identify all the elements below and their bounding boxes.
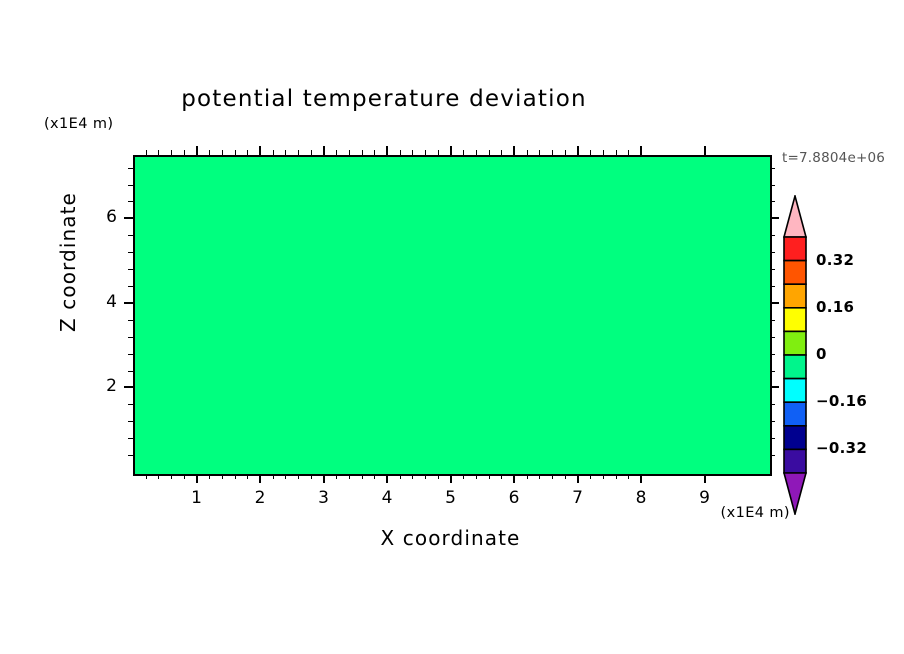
x-minor-tick-top xyxy=(565,150,566,155)
x-minor-tick xyxy=(412,474,413,479)
y-minor-tick-right xyxy=(770,185,775,186)
x-minor-tick-top xyxy=(336,150,337,155)
x-major-tick-top xyxy=(704,146,706,155)
y-minor-tick xyxy=(128,354,133,355)
x-minor-tick-top xyxy=(362,150,363,155)
x-minor-tick-top xyxy=(438,150,439,155)
x-minor-tick xyxy=(527,474,528,479)
y-axis-title: Z coordinate xyxy=(56,167,80,357)
x-minor-tick-top xyxy=(616,150,617,155)
y-minor-tick xyxy=(128,201,133,202)
x-minor-tick-top xyxy=(463,150,464,155)
x-tick-label: 6 xyxy=(494,488,534,508)
y-minor-tick xyxy=(128,455,133,456)
x-major-tick xyxy=(323,474,325,483)
x-tick-label: 1 xyxy=(177,488,217,508)
y-minor-tick-right xyxy=(770,455,775,456)
y-major-tick xyxy=(124,302,133,304)
x-minor-tick xyxy=(247,474,248,479)
y-minor-tick-right xyxy=(770,235,775,236)
x-minor-tick xyxy=(374,474,375,479)
page-title: potential temperature deviation xyxy=(0,86,768,112)
y-minor-tick-right xyxy=(770,354,775,355)
contour-plot-area xyxy=(133,155,772,476)
y-tick-label: 4 xyxy=(77,292,117,312)
colorbar-tick-label: 0.32 xyxy=(816,251,854,269)
x-minor-tick-top xyxy=(311,150,312,155)
x-minor-tick xyxy=(590,474,591,479)
y-tick-label: 6 xyxy=(77,207,117,227)
y-minor-tick xyxy=(128,168,133,169)
x-major-tick-top xyxy=(196,146,198,155)
x-minor-tick-top xyxy=(285,150,286,155)
x-minor-tick xyxy=(171,474,172,479)
x-minor-tick xyxy=(235,474,236,479)
x-minor-tick-top xyxy=(184,150,185,155)
x-minor-tick xyxy=(425,474,426,479)
x-minor-tick-top xyxy=(146,150,147,155)
x-minor-tick xyxy=(603,474,604,479)
x-minor-tick xyxy=(489,474,490,479)
y-minor-tick-right xyxy=(770,404,775,405)
y-minor-tick-right xyxy=(770,421,775,422)
x-minor-tick-top xyxy=(603,150,604,155)
time-annotation: t=7.8804e+06 xyxy=(782,150,885,166)
x-minor-tick-top xyxy=(158,150,159,155)
x-minor-tick-top xyxy=(298,150,299,155)
x-major-tick-top xyxy=(450,146,452,155)
x-major-tick xyxy=(386,474,388,483)
x-minor-tick xyxy=(476,474,477,479)
x-minor-tick xyxy=(616,474,617,479)
x-tick-label: 3 xyxy=(304,488,344,508)
colorbar-band xyxy=(784,331,806,355)
y-tick-label: 2 xyxy=(77,376,117,396)
x-minor-tick xyxy=(539,474,540,479)
x-minor-tick xyxy=(273,474,274,479)
x-tick-label: 9 xyxy=(685,488,725,508)
x-minor-tick-top xyxy=(489,150,490,155)
y-minor-tick-right xyxy=(770,201,775,202)
y-minor-tick-right xyxy=(770,337,775,338)
colorbar-band xyxy=(784,426,806,450)
y-minor-tick xyxy=(128,438,133,439)
y-minor-tick-right xyxy=(770,269,775,270)
colorbar-band xyxy=(784,308,806,332)
y-minor-tick xyxy=(128,185,133,186)
colorbar-band xyxy=(784,355,806,379)
x-minor-tick xyxy=(298,474,299,479)
x-minor-tick xyxy=(349,474,350,479)
x-minor-tick-top xyxy=(412,150,413,155)
x-minor-tick-top xyxy=(349,150,350,155)
x-minor-tick-top xyxy=(171,150,172,155)
x-minor-tick-top xyxy=(400,150,401,155)
x-tick-label: 5 xyxy=(431,488,471,508)
x-minor-tick xyxy=(336,474,337,479)
y-major-tick-right xyxy=(770,386,779,388)
y-minor-tick xyxy=(128,286,133,287)
x-minor-tick-top xyxy=(501,150,502,155)
x-axis-unit-label: (x1E4 m) xyxy=(721,505,790,521)
x-major-tick xyxy=(640,474,642,483)
x-major-tick-top xyxy=(577,146,579,155)
y-minor-tick-right xyxy=(770,252,775,253)
x-minor-tick xyxy=(146,474,147,479)
x-minor-tick-top xyxy=(273,150,274,155)
x-minor-tick xyxy=(463,474,464,479)
colorbar-swatches xyxy=(783,195,807,515)
y-minor-tick-right xyxy=(770,438,775,439)
y-minor-tick xyxy=(128,235,133,236)
x-minor-tick xyxy=(552,474,553,479)
y-minor-tick xyxy=(128,269,133,270)
y-minor-tick-right xyxy=(770,320,775,321)
x-minor-tick-top xyxy=(222,150,223,155)
y-minor-tick xyxy=(128,421,133,422)
x-minor-tick-top xyxy=(476,150,477,155)
y-minor-tick xyxy=(128,404,133,405)
x-minor-tick xyxy=(184,474,185,479)
x-minor-tick xyxy=(209,474,210,479)
x-minor-tick xyxy=(285,474,286,479)
colorbar-under-arrow xyxy=(784,473,806,514)
x-tick-label: 4 xyxy=(367,488,407,508)
scalar-field-heatmap xyxy=(135,157,770,474)
y-major-tick-right xyxy=(770,217,779,219)
x-minor-tick-top xyxy=(374,150,375,155)
y-minor-tick-right xyxy=(770,286,775,287)
x-tick-label: 2 xyxy=(240,488,280,508)
x-tick-label: 8 xyxy=(621,488,661,508)
x-minor-tick-top xyxy=(527,150,528,155)
colorbar-band xyxy=(784,449,806,473)
colorbar-band xyxy=(784,261,806,285)
x-major-tick-top xyxy=(640,146,642,155)
x-major-tick xyxy=(196,474,198,483)
x-major-tick xyxy=(450,474,452,483)
colorbar-tick-label: −0.16 xyxy=(816,392,867,410)
x-major-tick-top xyxy=(386,146,388,155)
x-minor-tick xyxy=(565,474,566,479)
y-minor-tick-right xyxy=(770,168,775,169)
colorbar-over-arrow xyxy=(784,196,806,237)
x-minor-tick-top xyxy=(552,150,553,155)
colorbar-tick-label: −0.32 xyxy=(816,439,867,457)
x-minor-tick-top xyxy=(209,150,210,155)
colorbar-band xyxy=(784,402,806,426)
x-major-tick-top xyxy=(513,146,515,155)
x-major-tick xyxy=(513,474,515,483)
x-minor-tick-top xyxy=(247,150,248,155)
y-minor-tick xyxy=(128,371,133,372)
x-minor-tick-top xyxy=(235,150,236,155)
x-major-tick xyxy=(704,474,706,483)
x-minor-tick xyxy=(158,474,159,479)
x-minor-tick xyxy=(400,474,401,479)
x-minor-tick xyxy=(628,474,629,479)
x-tick-label: 7 xyxy=(558,488,598,508)
y-minor-tick xyxy=(128,337,133,338)
y-major-tick-right xyxy=(770,302,779,304)
y-axis-unit-label: (x1E4 m) xyxy=(44,116,113,132)
x-minor-tick xyxy=(362,474,363,479)
x-major-tick-top xyxy=(259,146,261,155)
x-major-tick-top xyxy=(323,146,325,155)
x-axis-title: X coordinate xyxy=(133,526,768,550)
y-minor-tick xyxy=(128,320,133,321)
figure-canvas: potential temperature deviation (x1E4 m)… xyxy=(0,0,904,654)
colorbar-legend xyxy=(783,195,807,515)
y-minor-tick xyxy=(128,252,133,253)
x-minor-tick-top xyxy=(590,150,591,155)
colorbar-tick-label: 0.16 xyxy=(816,298,854,316)
x-minor-tick xyxy=(222,474,223,479)
x-minor-tick-top xyxy=(539,150,540,155)
x-minor-tick xyxy=(438,474,439,479)
x-minor-tick xyxy=(501,474,502,479)
x-major-tick xyxy=(577,474,579,483)
colorbar-band xyxy=(784,284,806,308)
colorbar-band xyxy=(784,237,806,261)
x-minor-tick xyxy=(311,474,312,479)
y-major-tick xyxy=(124,217,133,219)
x-minor-tick-top xyxy=(425,150,426,155)
colorbar-tick-label: 0 xyxy=(816,345,827,363)
x-minor-tick-top xyxy=(628,150,629,155)
y-minor-tick-right xyxy=(770,371,775,372)
colorbar-band xyxy=(784,379,806,403)
x-major-tick xyxy=(259,474,261,483)
y-major-tick xyxy=(124,386,133,388)
